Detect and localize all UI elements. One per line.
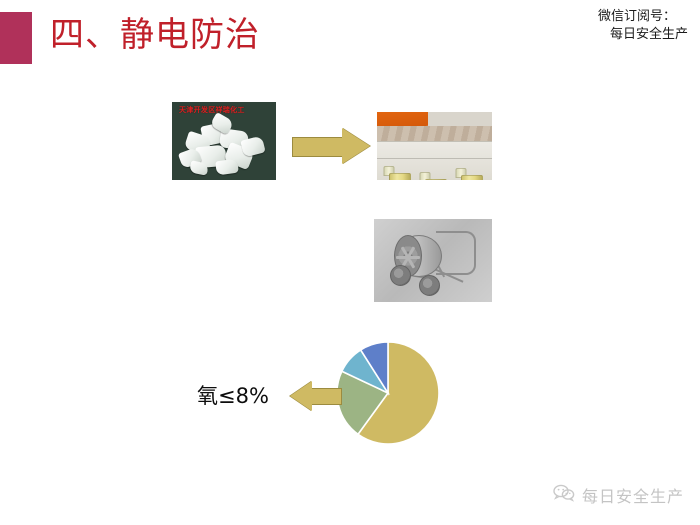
subscription-label: 微信订阅号： (598, 8, 688, 26)
oxygen-limit-label: 氧≤8% (197, 383, 269, 409)
wechat-icon (553, 484, 575, 507)
arrow-head (342, 128, 370, 164)
bottle-body (389, 173, 411, 180)
blower-handle (436, 231, 476, 275)
blower-wheel (419, 275, 440, 296)
pie-chart-svg (336, 341, 440, 445)
oxygen-composition-pie-chart (336, 341, 440, 445)
arrow-shaft (292, 137, 345, 157)
portable-blower-fan-photo (374, 219, 492, 302)
arrow-shaft (309, 388, 342, 405)
title-accent-bar (0, 12, 32, 64)
bottle-body (461, 175, 483, 180)
bottom-watermark: 每日安全生产 (553, 483, 684, 507)
arrow-head (290, 381, 312, 411)
flake-shape (215, 159, 239, 176)
watermark-text: 每日安全生产 (582, 483, 684, 507)
subscription-name: 每日安全生产 (598, 26, 688, 44)
blower-wheel (390, 265, 411, 286)
bottle-body (425, 179, 447, 180)
photo-watermark-text: 天津开发区祥瑞化工 (179, 105, 245, 115)
pie-slice-group (337, 342, 439, 444)
white-flake-chemical-photo: 天津开发区祥瑞化工 (172, 102, 276, 180)
subscription-info: 微信订阅号： 每日安全生产 (598, 8, 688, 44)
flake-shape (240, 136, 265, 158)
page-title: 四、静电防治 (50, 11, 260, 59)
yellow-liquid-bottles-photo (377, 112, 492, 180)
pie-callout-arrow-icon (290, 381, 342, 411)
process-arrow-icon (292, 128, 372, 164)
